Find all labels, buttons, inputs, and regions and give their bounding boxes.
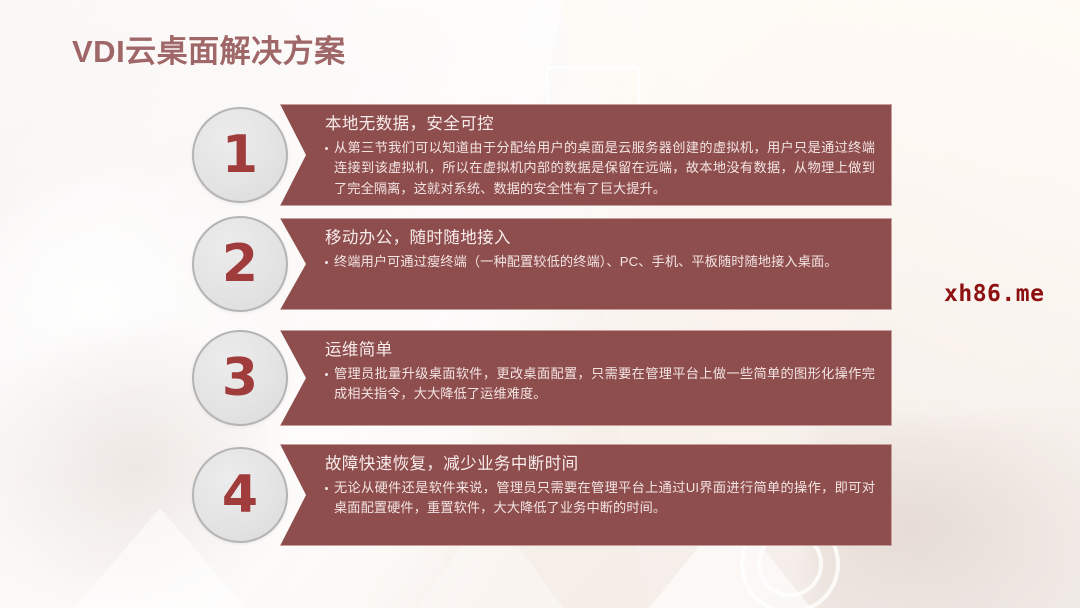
item-title: 移动办公，随时随地接入 (325, 228, 875, 249)
item-number-badge: 2 (192, 216, 288, 312)
item-banner: 本地无数据，安全可控 从第三节我们可以知道由于分配给用户的桌面是云服务器创建的虚… (280, 104, 892, 206)
slide-canvas: VDI云桌面解决方案 1 本地无数据，安全可控 从第三节我们可以知道由于分配给用… (0, 0, 1080, 608)
item-body: 终端用户可通过瘦终端（一种配置较低的终端）、PC、手机、平板随时随地接入桌面。 (325, 252, 875, 273)
item-body: 无论从硬件还是软件来说，管理员只需要在管理平台上通过UI界面进行简单的操作，即可… (325, 478, 875, 519)
item-body: 管理员批量升级桌面软件，更改桌面配置，只需要在管理平台上做一些简单的图形化操作完… (325, 364, 875, 405)
item-number-badge: 3 (192, 330, 288, 426)
item-banner: 运维简单 管理员批量升级桌面软件，更改桌面配置，只需要在管理平台上做一些简单的图… (280, 330, 892, 426)
item-number-badge: 4 (192, 447, 288, 543)
item-number: 4 (222, 469, 258, 521)
list-item: 2 移动办公，随时随地接入 终端用户可通过瘦终端（一种配置较低的终端）、PC、手… (192, 218, 892, 310)
item-title: 运维简单 (325, 340, 875, 361)
watermark: xh86.me (944, 281, 1044, 307)
list-item: 4 故障快速恢复，减少业务中断时间 无论从硬件还是软件来说，管理员只需要在管理平… (192, 444, 892, 546)
item-title: 故障快速恢复，减少业务中断时间 (325, 454, 875, 475)
item-banner: 移动办公，随时随地接入 终端用户可通过瘦终端（一种配置较低的终端）、PC、手机、… (280, 218, 892, 310)
items-list: 1 本地无数据，安全可控 从第三节我们可以知道由于分配给用户的桌面是云服务器创建… (0, 0, 1080, 608)
item-banner: 故障快速恢复，减少业务中断时间 无论从硬件还是软件来说，管理员只需要在管理平台上… (280, 444, 892, 546)
item-title: 本地无数据，安全可控 (325, 114, 875, 135)
item-number: 2 (222, 238, 258, 290)
item-number-badge: 1 (192, 107, 288, 203)
list-item: 1 本地无数据，安全可控 从第三节我们可以知道由于分配给用户的桌面是云服务器创建… (192, 104, 892, 206)
item-number: 3 (222, 352, 258, 404)
item-number: 1 (222, 129, 258, 181)
list-item: 3 运维简单 管理员批量升级桌面软件，更改桌面配置，只需要在管理平台上做一些简单… (192, 330, 892, 426)
item-body: 从第三节我们可以知道由于分配给用户的桌面是云服务器创建的虚拟机，用户只是通过终端… (325, 138, 875, 200)
